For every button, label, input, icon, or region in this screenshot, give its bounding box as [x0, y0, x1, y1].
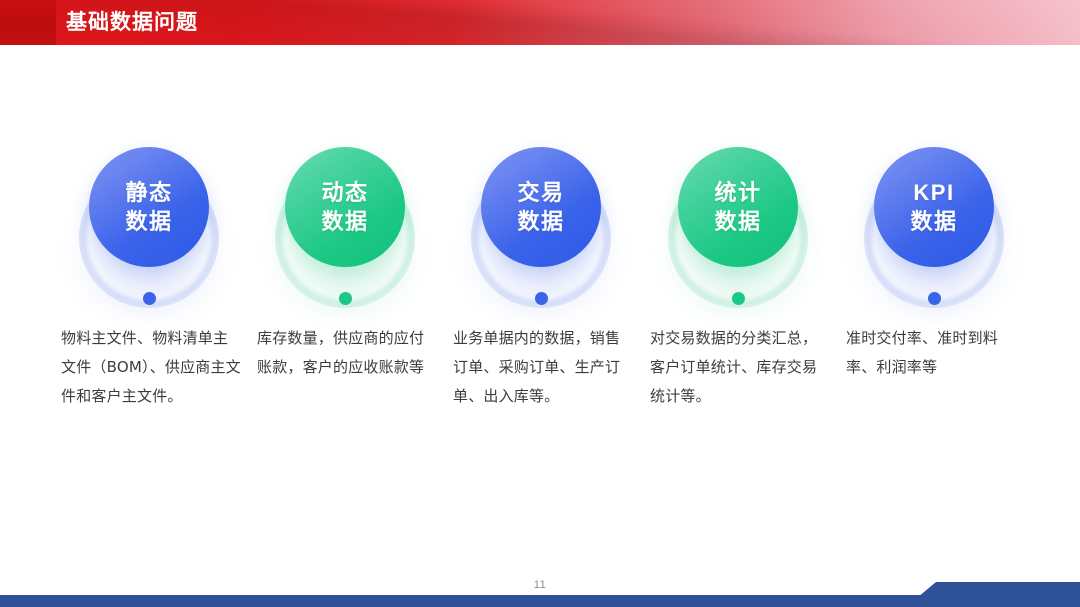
- data-category-card-kpi: KPI 数据 准时交付率、准时到料率、利润率等: [835, 132, 1031, 462]
- bubble-title-line-1: KPI: [913, 178, 954, 207]
- bubble-circle[interactable]: 动态 数据: [285, 147, 405, 267]
- bubble-circle[interactable]: 统计 数据: [678, 147, 798, 267]
- data-category-row: 静态 数据 物料主文件、物料清单主文件（BOM）、供应商主文件和客户主文件。 动…: [0, 132, 1080, 462]
- bubble-anchor-dot: [339, 292, 352, 305]
- bubble-anchor-dot: [928, 292, 941, 305]
- slide-canvas: 基础数据问题 静态 数据 物料主文件、物料清单主文件（BOM）、供应商主文件和客…: [0, 0, 1080, 607]
- bubble-title-line-1: 交易: [517, 178, 564, 207]
- bubble-title-line-2: 数据: [321, 207, 368, 236]
- bubble-title-line-2: 数据: [714, 207, 761, 236]
- slide-title: 基础数据问题: [66, 0, 198, 45]
- bubble-group[interactable]: 统计 数据: [639, 132, 835, 317]
- page-number: 11: [0, 579, 1080, 591]
- data-category-card-static: 静态 数据 物料主文件、物料清单主文件（BOM）、供应商主文件和客户主文件。: [50, 132, 246, 462]
- bubble-anchor-dot: [535, 292, 548, 305]
- bubble-anchor-dot: [732, 292, 745, 305]
- bubble-title-line-1: 统计: [714, 178, 761, 207]
- bubble-circle[interactable]: 交易 数据: [481, 147, 601, 267]
- data-category-card-transaction: 交易 数据 业务单据内的数据，销售订单、采购订单、生产订单、出入库等。: [442, 132, 638, 462]
- header-left-accent-block: [0, 0, 56, 45]
- bubble-anchor-dot: [143, 292, 156, 305]
- bubble-group[interactable]: KPI 数据: [835, 132, 1031, 317]
- bubble-title-line-2: 数据: [910, 207, 957, 236]
- category-description: 对交易数据的分类汇总，客户订单统计、库存交易统计等。: [650, 324, 830, 411]
- bubble-title-line-1: 动态: [321, 178, 368, 207]
- bubble-group[interactable]: 交易 数据: [442, 132, 638, 317]
- bubble-circle[interactable]: KPI 数据: [874, 147, 994, 267]
- bubble-title-line-1: 静态: [125, 178, 172, 207]
- bubble-group[interactable]: 动态 数据: [246, 132, 442, 317]
- category-description: 库存数量，供应商的应付账款，客户的应收账款等: [257, 324, 437, 382]
- category-description: 物料主文件、物料清单主文件（BOM）、供应商主文件和客户主文件。: [61, 324, 241, 411]
- data-category-card-dynamic: 动态 数据 库存数量，供应商的应付账款，客户的应收账款等: [246, 132, 442, 462]
- bubble-title-line-2: 数据: [517, 207, 564, 236]
- bubble-group[interactable]: 静态 数据: [50, 132, 246, 317]
- bubble-circle[interactable]: 静态 数据: [89, 147, 209, 267]
- category-description: 准时交付率、准时到料率、利润率等: [846, 324, 1026, 382]
- bubble-title-line-2: 数据: [125, 207, 172, 236]
- data-category-card-statistics: 统计 数据 对交易数据的分类汇总，客户订单统计、库存交易统计等。: [639, 132, 835, 462]
- category-description: 业务单据内的数据，销售订单、采购订单、生产订单、出入库等。: [453, 324, 633, 411]
